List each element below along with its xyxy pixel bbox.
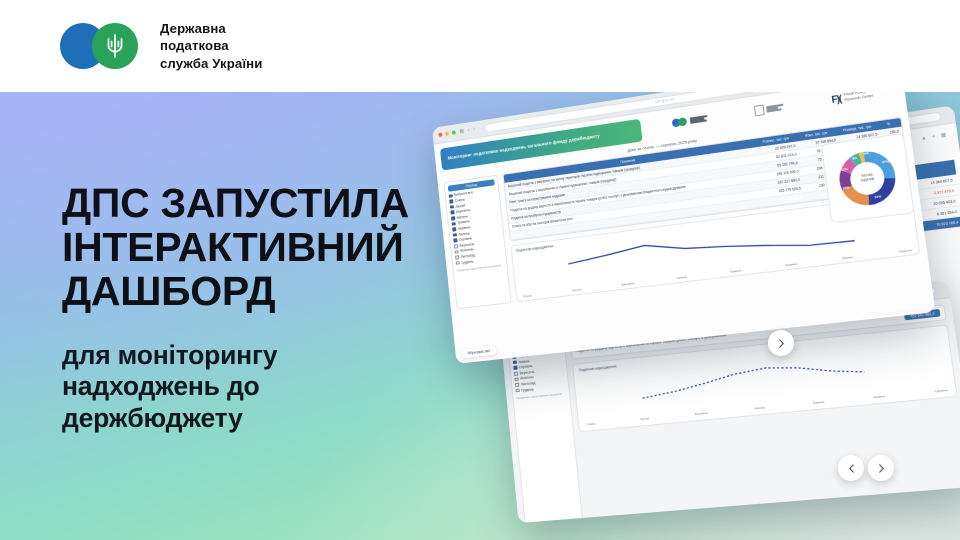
checkbox-icon[interactable]	[516, 389, 520, 393]
traffic-lights	[438, 130, 456, 137]
next-slide-button-top[interactable]	[768, 330, 794, 356]
x-tick: Квітень	[754, 405, 765, 410]
headline-block: ДПС ЗАПУСТИЛА ІНТЕРАКТИВНИЙ ДАШБОРД для …	[62, 182, 462, 435]
institute-logo	[754, 102, 784, 117]
x-tick: Червень	[872, 394, 885, 399]
sts-logo: Державна податкова служба України	[60, 20, 262, 72]
omnibox-text: tax.gov.ua	[655, 97, 675, 104]
logo-line-1: Державна	[160, 20, 262, 37]
institute-mark-icon	[754, 105, 765, 117]
browser-window-main[interactable]: ▦ ‹ › tax.gov.ua ▲ + ▦ Моніторинг податк…	[432, 56, 935, 364]
logo-line-3: служба України	[160, 55, 262, 72]
donut-label-2: податків	[860, 176, 874, 182]
x-tick: Січень	[523, 294, 532, 299]
subtitle-line-3: держбюджету	[62, 403, 462, 435]
sidebar-toggle-icon[interactable]: ▦	[459, 129, 464, 135]
x-tick: Липень	[842, 255, 854, 261]
trident-icon	[678, 117, 687, 126]
checkbox-icon[interactable]	[513, 366, 517, 370]
prev-slide-button[interactable]	[838, 455, 864, 481]
logo-line-2: податкова	[160, 37, 262, 54]
headline-line-2: ІНТЕРАКТИВНИЙ	[62, 226, 462, 270]
plus-icon[interactable]: +	[932, 135, 936, 141]
x-tick: Серпень	[898, 248, 912, 254]
header-bar: Державна податкова служба України	[0, 0, 960, 92]
sts-mini-logo	[672, 114, 709, 128]
checkbox-icon[interactable]	[515, 383, 519, 387]
total-plan: 790 168 808,5	[765, 195, 803, 204]
tabs-icon[interactable]: ▦	[941, 133, 947, 139]
filter-label: Жовтень	[520, 375, 534, 380]
trident-icon	[92, 23, 138, 69]
filter-label: Листопад	[520, 381, 535, 387]
slice-label: 12%	[841, 167, 848, 172]
x-tick: Березень	[695, 411, 709, 416]
x-tick: Лютий	[572, 288, 581, 293]
slice-label: 19%	[842, 185, 849, 190]
checkbox-icon[interactable]	[514, 377, 518, 381]
x-tick: Лютий	[640, 416, 649, 421]
x-tick: Березень	[622, 281, 636, 287]
subtitle: для моніторингу надходжень до держбюджет…	[62, 340, 462, 435]
share-icon[interactable]: ▲	[921, 136, 927, 142]
x-tick: Червень	[785, 262, 798, 268]
chevron-left-icon	[847, 464, 856, 473]
filter-label: Грудень	[461, 259, 474, 265]
filter-label: Вересень	[519, 370, 534, 376]
x-tick: Серпень	[934, 388, 948, 394]
filter-label: Серпень	[519, 364, 533, 369]
page-title: ДПС ЗАПУСТИЛА ІНТЕРАКТИВНИЙ ДАШБОРД	[62, 182, 462, 314]
logo-text: Державна податкова служба України	[160, 20, 262, 72]
chevron-right-icon[interactable]: ›	[473, 127, 475, 132]
slice-label: 9%	[852, 156, 857, 161]
chevron-left-icon[interactable]: ‹	[468, 128, 470, 133]
slice-label: 27%	[882, 159, 889, 164]
checkbox-icon[interactable]	[513, 360, 517, 364]
logo-circles-icon	[672, 117, 689, 128]
fprc-mark-icon: F)(	[831, 93, 842, 105]
filter-note: Показники наростаючим підсумком	[516, 391, 566, 400]
next-slide-button[interactable]	[868, 455, 894, 481]
x-tick: Травень	[730, 268, 742, 274]
subtitle-line-2: надходжень до	[62, 371, 462, 403]
filter-label: Грудень	[521, 387, 534, 392]
logo-caption	[690, 115, 709, 124]
x-tick: Травень	[812, 400, 825, 405]
slice-label: 6%	[864, 151, 869, 156]
x-tick: Січень	[586, 421, 595, 426]
donut-chart: Частка податків 27% 24% 19% 12% 9% 6%	[831, 143, 905, 214]
donut-chart-card: Частка податків 27% 24% 19% 12% 9% 6%	[821, 133, 915, 224]
minimize-icon[interactable]	[445, 131, 449, 136]
maximize-icon[interactable]	[452, 130, 456, 135]
filter-label: Липень	[518, 359, 530, 364]
headline-line-3: ДАШБОРД	[62, 270, 462, 314]
headline-line-1: ДПС ЗАПУСТИЛА	[62, 182, 462, 226]
institute-caption	[766, 104, 784, 113]
slice-label: 24%	[874, 194, 881, 199]
x-tick: Квітень	[676, 275, 687, 280]
promo-poster: Державна податкова служба України ДПС ЗА…	[0, 0, 960, 540]
subtitle-line-1: для моніторингу	[62, 340, 462, 372]
logo-marks	[60, 23, 152, 69]
chevron-right-icon	[877, 464, 886, 473]
report-button[interactable]: Збірковий звіт	[461, 346, 497, 358]
close-icon[interactable]	[438, 132, 442, 137]
chevron-right-icon	[777, 339, 786, 348]
checkbox-icon[interactable]	[514, 372, 518, 376]
